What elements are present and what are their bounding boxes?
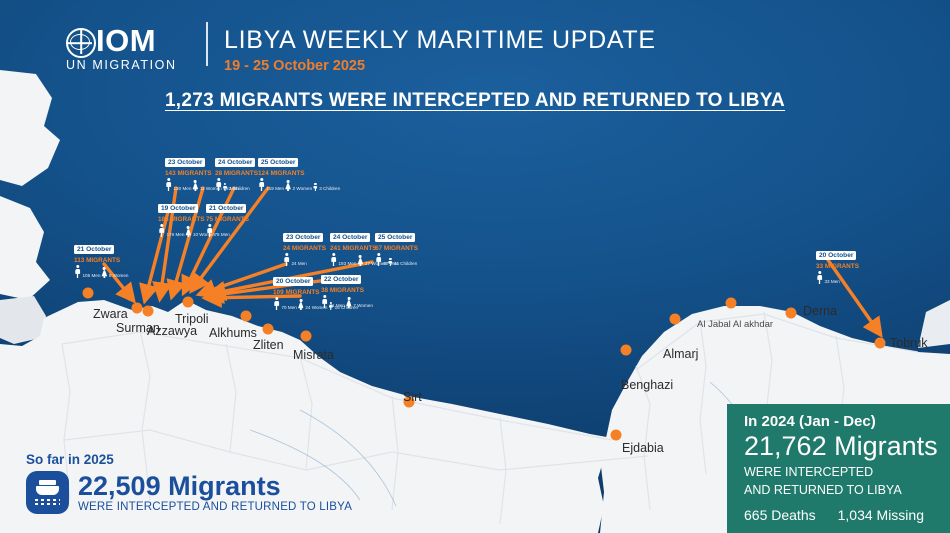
stat-2025-value: 22,509 Migrants [78,472,352,501]
man-figure-icon [165,178,172,191]
woman-figure-icon [357,255,363,266]
event-breakdown-label: 7 Women [353,303,373,308]
event-migrant-count: 38 MIGRANTS [321,287,373,294]
city-pin-derna [786,308,797,319]
event-date: 19 October [158,204,198,213]
event-migrant-count: 33 MIGRANTS [816,263,868,270]
event-date: 24 October [330,233,370,242]
stat-2024-eyebrow: In 2024 (Jan - Dec) [744,413,950,430]
event-callout-e6: 21 October75 MIGRANTS75 Men [206,197,258,237]
event-breakdown-label: 70 Men [282,305,297,310]
event-figure-group: 176 Men10 Women [158,224,210,237]
event-figure-group: 75 Men [206,224,258,237]
event-callout-e4: 25 October124 MIGRANTS119 Men2 Women3 Ch… [258,151,310,191]
header: IOM UN MIGRATION LIBYA WEEKLY MARITIME U… [0,0,950,88]
header-divider [206,22,208,66]
event-breakdown-label: 193 Men [339,261,357,266]
woman-figure-icon [298,299,304,310]
city-pin-tripoli [183,297,194,308]
event-date: 20 October [273,277,313,286]
event-figure-group: 67 Men [375,253,427,266]
main-headline: 1,273 MIGRANTS WERE INTERCEPTED AND RETU… [0,90,950,112]
event-date: 21 October [74,245,114,254]
city-pin-azzawya [143,306,154,317]
event-callout-e2: 23 October143 MIGRANTS130 Men11 Women2 C… [165,151,217,191]
event-breakdown-label: 75 Men [215,232,230,237]
woman-figure-icon [285,180,291,191]
man-figure-icon [375,253,382,266]
city-label-almarj: Almarj [663,347,698,361]
event-date: 20 October [816,251,856,260]
city-label-tobruk: Tobruk [890,336,928,350]
event-date: 23 October [165,158,205,167]
header-date-range: 19 - 25 October 2025 [224,58,365,74]
man-figure-icon [816,271,823,284]
event-callout-e12: 20 October33 MIGRANTS33 Men [816,244,868,284]
city-pin-surman [132,303,143,314]
event-breakdown-label: 28 Men [224,186,239,191]
org-tagline: UN MIGRATION [66,58,177,72]
event-breakdown-label: 130 Men [174,186,192,191]
event-breakdown-label: 105 Men [83,273,101,278]
event-migrant-count: 113 MIGRANTS [74,257,126,264]
header-title: LIBYA WEEKLY MARITIME UPDATE [224,26,656,55]
event-figure-group: 130 Men11 Women2 Children [165,178,217,191]
city-pin-misrata [301,331,312,342]
stat-2025-eyebrow: So far in 2025 [26,452,352,467]
event-breakdown-label: 67 Men [384,261,399,266]
event-breakdown-label: 31 Men [330,303,345,308]
event-figure-group: 70 Men24 Women15 Children [273,297,325,310]
city-pin-al-jabal-al-akhdar [726,298,737,309]
event-callout-e5: 19 October186 MIGRANTS176 Men10 Women [158,197,210,237]
event-figure-group: 105 Men8 Women [74,265,126,278]
event-migrant-count: 67 MIGRANTS [375,245,427,252]
man-figure-icon [273,297,280,310]
stat-2024: In 2024 (Jan - Dec) 21,762 Migrants WERE… [727,404,950,533]
woman-figure-icon [192,180,198,191]
man-figure-icon [206,224,213,237]
event-migrant-count: 143 MIGRANTS [165,170,217,177]
city-label-benghazi: Benghazi [621,378,673,392]
city-pin-tobruk [875,338,886,349]
event-date: 25 October [375,233,415,242]
event-callout-e10: 20 October109 MIGRANTS70 Men24 Women15 C… [273,270,325,310]
event-breakdown-label: 176 Men [167,232,185,237]
city-label-sirt: Sirt [403,390,422,404]
man-figure-icon [258,178,265,191]
event-callout-e11: 22 October38 MIGRANTS31 Men7 Women [321,268,373,308]
infographic-root: ZwaraSurmanAzzawyaTripoliAlkhumsZlitenMi… [0,0,950,533]
globe-icon [66,28,96,58]
event-date: 23 October [283,233,323,242]
city-label-zliten: Zliten [253,338,284,352]
woman-figure-icon [346,297,352,308]
woman-figure-icon [101,267,107,278]
event-breakdown-label: 33 Men [825,279,840,284]
man-figure-icon [330,253,337,266]
event-migrant-count: 186 MIGRANTS [158,216,210,223]
event-migrant-count: 109 MIGRANTS [273,289,325,296]
woman-figure-icon [185,226,191,237]
event-callout-e7: 23 October24 MIGRANTS24 Men [283,226,335,266]
stat-2025: So far in 2025 22,509 Migrants WERE INTE… [26,452,352,514]
stat-2024-caption-line1: WERE INTERCEPTED [744,465,950,480]
event-figure-group: 31 Men7 Women [321,295,373,308]
stat-2024-value: 21,762 Migrants [744,431,950,462]
event-date: 24 October [215,158,255,167]
event-migrant-count: 124 MIGRANTS [258,170,310,177]
iom-logo: IOM UN MIGRATION [66,22,194,70]
man-figure-icon [158,224,165,237]
stat-2024-deaths: 665 Deaths [744,507,816,523]
man-figure-icon [74,265,81,278]
event-breakdown-label: 24 Men [292,261,307,266]
man-figure-icon [215,178,222,191]
event-breakdown-label: 3 Children [319,186,340,191]
city-label-zwara: Zwara [93,307,128,321]
city-label-al-jabal-al-akhdar: Al Jabal Al akhdar [697,319,773,330]
event-figure-group: 119 Men2 Women3 Children [258,178,310,191]
boat-icon [26,471,69,514]
stat-2025-caption: WERE INTERCEPTED AND RETURNED TO LIBYA [78,501,352,513]
city-label-azzawya: Azzawya [147,324,197,338]
man-figure-icon [283,253,290,266]
city-pin-almarj [670,314,681,325]
event-migrant-count: 75 MIGRANTS [206,216,258,223]
event-figure-group: 33 Men [816,271,868,284]
child-figure-icon [313,183,318,191]
city-pin-benghazi [621,345,632,356]
event-callout-e1: 21 October113 MIGRANTS105 Men8 Women [74,238,126,278]
event-breakdown-label: 8 Women [109,273,129,278]
city-pin-zwara [83,288,94,299]
event-date: 21 October [206,204,246,213]
event-callout-e9: 25 October67 MIGRANTS67 Men [375,226,427,266]
city-label-derna: Derna [803,304,837,318]
city-pin-zliten [263,324,274,335]
city-label-alkhums: Alkhums [209,326,257,340]
city-pin-ejdabia [611,430,622,441]
org-name: IOM [96,22,156,60]
man-figure-icon [321,295,328,308]
city-label-tripoli: Tripoli [175,312,209,326]
city-pin-alkhums [241,311,252,322]
stat-2024-caption-line2: AND RETURNED TO LIBYA [744,483,950,498]
event-date: 22 October [321,275,361,284]
event-migrant-count: 24 MIGRANTS [283,245,335,252]
event-date: 25 October [258,158,298,167]
city-label-misrata: Misrata [293,348,334,362]
event-breakdown-label: 2 Women [293,186,313,191]
city-label-ejdabia: Ejdabia [622,441,664,455]
event-breakdown-label: 119 Men [267,186,285,191]
event-figure-group: 24 Men [283,253,335,266]
stat-2024-missing: 1,034 Missing [838,507,924,523]
